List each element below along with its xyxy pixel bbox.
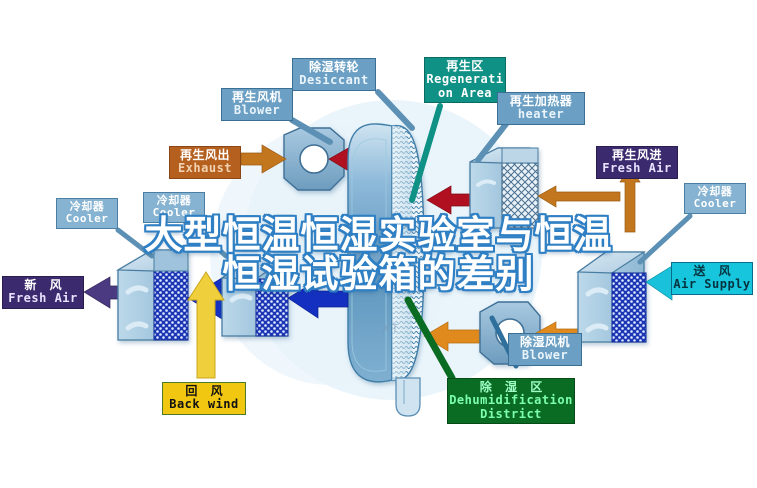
precooling-coil [118, 250, 188, 340]
label-en: Fresh Air [3, 292, 83, 305]
label-cooler-left[interactable]: 冷却器 Cooler [56, 198, 118, 229]
label-en-line2: District [448, 408, 574, 421]
label-cn: 除 湿 区 [448, 381, 574, 394]
label-cn: 回 风 [163, 385, 245, 398]
label-cooler-right[interactable]: 冷却器 Cooler [684, 183, 746, 214]
label-en: Cooler [685, 198, 745, 210]
label-cooler-mid[interactable]: 冷却器 Cooler [143, 192, 205, 223]
label-en: Cooler [144, 207, 204, 219]
label-cn: 送 风 [672, 265, 752, 278]
label-cn: 除湿转轮 [293, 61, 375, 74]
label-cn: 再生区 [425, 60, 505, 73]
label-cn: 再生加热器 [498, 95, 584, 108]
label-regeneration-fresh-air[interactable]: 再生风进 Fresh Air [596, 146, 678, 179]
label-fresh-air-inlet[interactable]: 新 风 Fresh Air [2, 276, 84, 309]
label-regeneration-area[interactable]: 再生区 Regenerati on Area [424, 57, 506, 103]
label-en: Back wind [163, 398, 245, 411]
label-back-wind[interactable]: 回 风 Back wind [162, 382, 246, 415]
label-cn: 再生风出 [170, 149, 240, 162]
label-cn: 再生风机 [222, 91, 292, 104]
label-en-line1: Regenerati [425, 73, 505, 86]
label-en-line1: Dehumidification [448, 394, 574, 407]
supply-coil [578, 252, 646, 342]
label-en-line2: on Area [425, 87, 505, 100]
label-en: Fresh Air [597, 162, 677, 175]
diagram-canvas: 除湿转轮 Desiccant 再生风机 Blower 再生区 Regenerat… [0, 0, 757, 488]
label-en: Desiccant [293, 74, 375, 87]
condensate-tray [396, 378, 420, 416]
label-cn: 新 风 [3, 279, 83, 292]
label-en: Cooler [57, 213, 117, 225]
label-air-supply[interactable]: 送 风 Air Supply [671, 262, 753, 295]
desiccant-rotor-wheel [348, 124, 424, 382]
label-en: Blower [509, 349, 581, 362]
schematic-artwork [0, 0, 757, 488]
label-dehumidification-blower[interactable]: 除湿风机 Blower [508, 333, 582, 366]
label-en: Air Supply [672, 278, 752, 291]
label-en: Blower [222, 104, 292, 117]
label-dehumidification-district[interactable]: 除 湿 区 Dehumidification District [447, 378, 575, 424]
label-cn: 除湿风机 [509, 336, 581, 349]
label-en: Exhaust [170, 162, 240, 175]
regen-heater-arrow [538, 186, 620, 207]
label-cn: 再生风进 [597, 149, 677, 162]
label-desiccant-wheel[interactable]: 除湿转轮 Desiccant [292, 58, 376, 91]
label-en: heater [498, 108, 584, 121]
label-regeneration-blower[interactable]: 再生风机 Blower [221, 88, 293, 121]
label-regeneration-exhaust[interactable]: 再生风出 Exhaust [169, 146, 241, 179]
label-regeneration-heater[interactable]: 再生加热器 heater [497, 92, 585, 125]
